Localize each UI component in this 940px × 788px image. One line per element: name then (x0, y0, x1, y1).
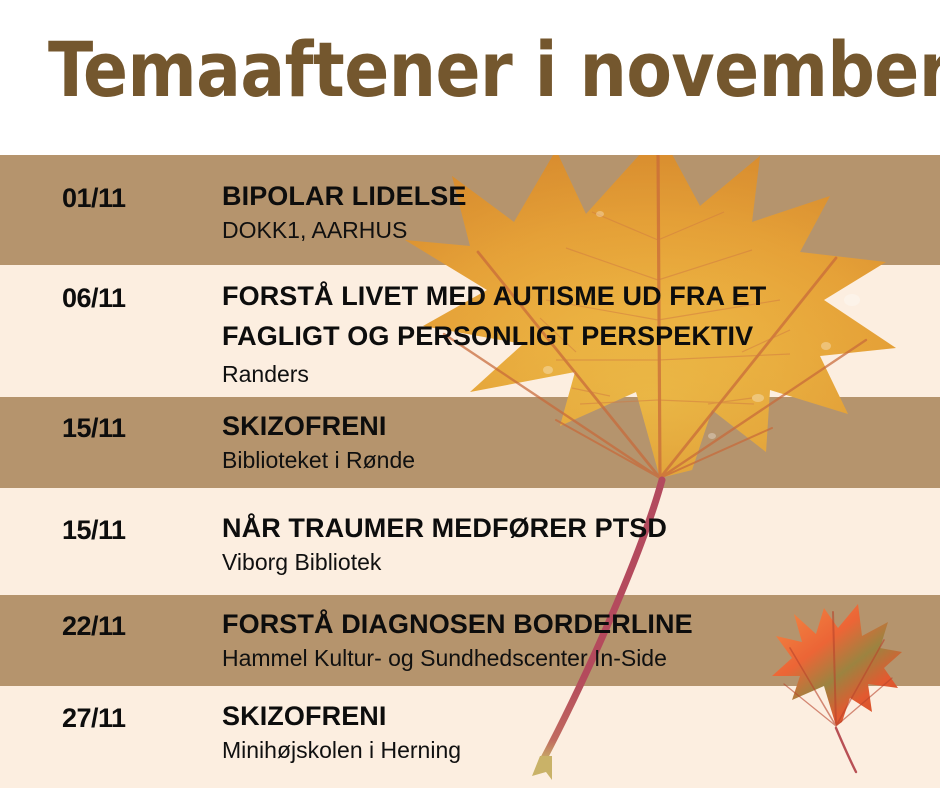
event-date-3: 15/11 (62, 413, 126, 444)
event-title-1: BIPOLAR LIDELSE (222, 179, 930, 213)
event-title-4: NÅR TRAUMER MEDFØRER PTSD (222, 511, 930, 545)
title-banner: Temaaftener i november (0, 0, 940, 155)
event-body-2: FORSTÅ LIVET MED AUTISME UD FRA ET FAGLI… (222, 279, 930, 389)
event-body-6: SKIZOFRENI Minihøjskolen i Herning (222, 699, 930, 765)
event-title-5: FORSTÅ DIAGNOSEN BORDERLINE (222, 607, 930, 641)
event-title-2-line2: FAGLIGT OG PERSONLIGT PERSPEKTIV (222, 319, 930, 353)
event-title-6: SKIZOFRENI (222, 699, 930, 733)
event-body-4: NÅR TRAUMER MEDFØRER PTSD Viborg Bibliot… (222, 511, 930, 577)
event-venue-1: DOKK1, AARHUS (222, 215, 930, 245)
event-body-3: SKIZOFRENI Biblioteket i Rønde (222, 409, 930, 475)
event-date-1: 01/11 (62, 183, 126, 214)
page-title: Temaaftener i november (48, 24, 882, 116)
poster-canvas: Temaaftener i november 01/11 BIPOLAR LID… (0, 0, 940, 788)
event-body-1: BIPOLAR LIDELSE DOKK1, AARHUS (222, 179, 930, 245)
event-date-6: 27/11 (62, 703, 126, 734)
event-date-2: 06/11 (62, 283, 126, 314)
event-venue-6: Minihøjskolen i Herning (222, 735, 930, 765)
event-venue-3: Biblioteket i Rønde (222, 445, 930, 475)
event-title-2: FORSTÅ LIVET MED AUTISME UD FRA ET (222, 279, 930, 313)
event-list: 01/11 BIPOLAR LIDELSE DOKK1, AARHUS 06/1… (0, 155, 940, 788)
event-venue-2: Randers (222, 359, 930, 389)
event-title-3: SKIZOFRENI (222, 409, 930, 443)
event-date-4: 15/11 (62, 515, 126, 546)
event-venue-4: Viborg Bibliotek (222, 547, 930, 577)
event-body-5: FORSTÅ DIAGNOSEN BORDERLINE Hammel Kultu… (222, 607, 930, 673)
event-venue-5: Hammel Kultur- og Sundhedscenter In-Side (222, 643, 930, 673)
event-date-5: 22/11 (62, 611, 126, 642)
